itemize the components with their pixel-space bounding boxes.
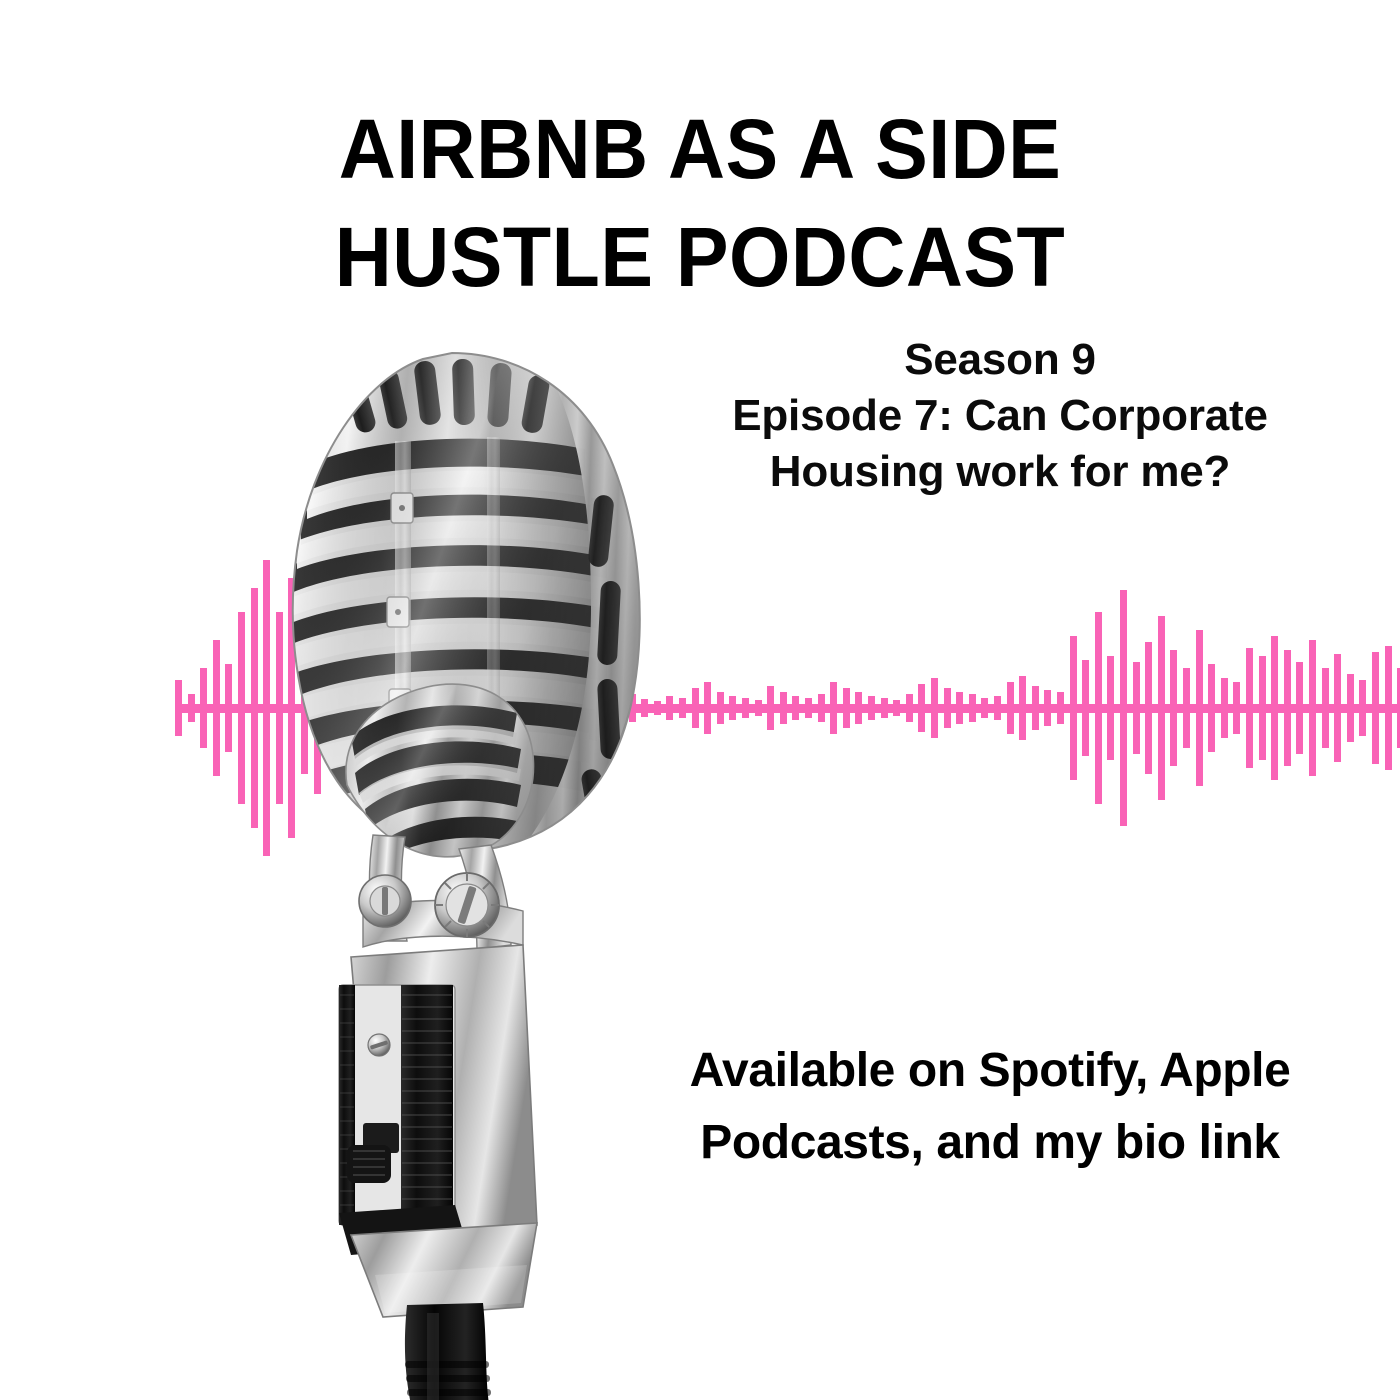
waveform-bar [1233, 682, 1240, 734]
yoke-thumbscrew-right [435, 873, 499, 937]
waveform-bar [981, 698, 988, 718]
podcast-title: AIRBNB AS A SIDE HUSTLE PODCAST [0, 95, 1400, 311]
vintage-microphone-image [255, 345, 675, 1400]
microphone-base [339, 945, 537, 1317]
waveform-bar [200, 668, 207, 748]
waveform-bar [1221, 678, 1228, 738]
waveform-bar [238, 612, 245, 804]
availability-line-2: Podcasts, and my bio link [620, 1107, 1360, 1179]
waveform-bar [1271, 636, 1278, 780]
waveform-bar [1070, 636, 1077, 780]
waveform-bar [1322, 668, 1329, 748]
waveform-bar [780, 692, 787, 724]
waveform-bar [805, 698, 812, 718]
waveform-bar [1145, 642, 1152, 774]
waveform-bar [188, 694, 195, 722]
waveform-bar [956, 692, 963, 724]
availability-note: Available on Spotify, Apple Podcasts, an… [620, 1035, 1360, 1179]
waveform-bar [742, 698, 749, 718]
waveform-bar [717, 692, 724, 724]
waveform-bar [1032, 686, 1039, 730]
episode-info: Season 9 Episode 7: Can Corporate Housin… [640, 332, 1360, 500]
waveform-bar [1246, 648, 1253, 768]
title-line-1: AIRBNB AS A SIDE [42, 95, 1358, 203]
waveform-bar [969, 694, 976, 722]
season-label: Season 9 [640, 332, 1360, 388]
waveform-bar [1082, 660, 1089, 756]
waveform-bar [1095, 612, 1102, 804]
waveform-bar [1158, 616, 1165, 800]
availability-line-1: Available on Spotify, Apple [620, 1035, 1360, 1107]
waveform-bar [1196, 630, 1203, 786]
episode-title-line-2: Housing work for me? [640, 444, 1360, 500]
waveform-bar [1385, 646, 1392, 770]
waveform-bar [1284, 650, 1291, 766]
waveform-bar [1347, 674, 1354, 742]
waveform-bar [830, 682, 837, 734]
waveform-bar [729, 696, 736, 720]
waveform-bar [1309, 640, 1316, 776]
waveform-bar [1183, 668, 1190, 748]
yoke-thumbscrew-left [359, 875, 411, 927]
switch-ribbed-block [401, 985, 453, 1225]
waveform-bar [792, 696, 799, 720]
waveform-bar [881, 698, 888, 718]
waveform-bar [679, 698, 686, 718]
waveform-bar [1057, 692, 1064, 724]
waveform-bar [755, 700, 762, 716]
waveform-bar [213, 640, 220, 776]
title-line-2: HUSTLE PODCAST [42, 203, 1358, 311]
waveform-bar [1334, 654, 1341, 762]
waveform-bar [1359, 680, 1366, 736]
waveform-bar [1120, 590, 1127, 826]
waveform-bar [1259, 656, 1266, 760]
waveform-bar [1372, 652, 1379, 764]
waveform-bar [175, 680, 182, 736]
waveform-bar [868, 696, 875, 720]
waveform-bar [994, 696, 1001, 720]
waveform-bar [704, 682, 711, 734]
waveform-bar [818, 694, 825, 722]
waveform-bar [1107, 656, 1114, 760]
waveform-bar [1133, 662, 1140, 754]
podcast-cover: AIRBNB AS A SIDE HUSTLE PODCAST Season 9… [0, 0, 1400, 1400]
waveform-bar [843, 688, 850, 728]
waveform-bar [1170, 650, 1177, 766]
waveform-bar [918, 684, 925, 732]
waveform-bar [931, 678, 938, 738]
waveform-bar [893, 700, 900, 716]
waveform-bar [1044, 690, 1051, 726]
waveform-bar [767, 686, 774, 730]
waveform-bar [1208, 664, 1215, 752]
waveform-bar [1007, 682, 1014, 734]
waveform-bar [692, 688, 699, 728]
episode-title-line-1: Episode 7: Can Corporate [640, 388, 1360, 444]
waveform-bar [1019, 676, 1026, 740]
waveform-bar [855, 692, 862, 724]
microphone-cable [405, 1303, 491, 1400]
base-screw [368, 1034, 390, 1056]
waveform-bar [225, 664, 232, 752]
waveform-bar [944, 688, 951, 728]
waveform-bar [1296, 662, 1303, 754]
waveform-bar [906, 694, 913, 722]
